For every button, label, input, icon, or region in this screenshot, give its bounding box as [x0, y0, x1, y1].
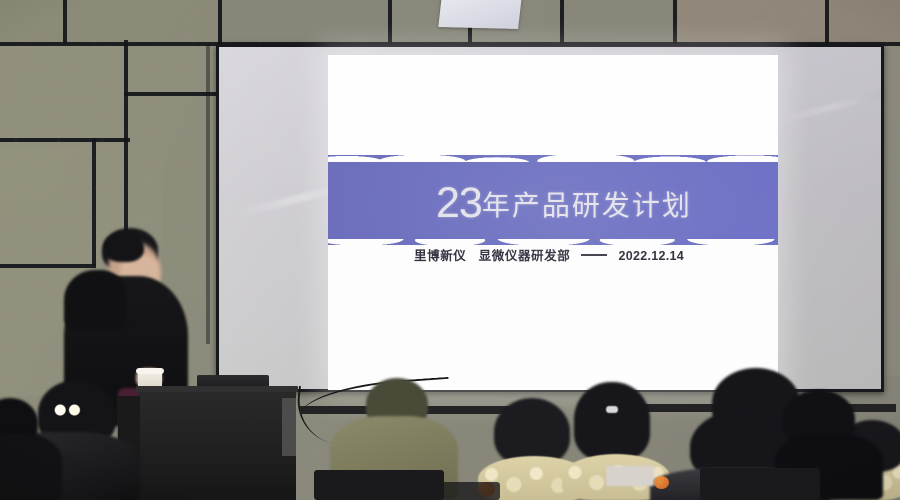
- wall-seam-v6: [825, 0, 829, 44]
- presentation-room-photo: 23年产品研发计划 里博新仪 显微仪器研发部 2022.12.14: [0, 0, 900, 500]
- sign-stem: [468, 26, 472, 44]
- chair-back-left: [314, 470, 444, 500]
- wall-seam-v3: [388, 0, 392, 44]
- slide-subtitle-date: 2022.12.14: [619, 249, 685, 263]
- wall-panel-upper-right: [673, 0, 825, 46]
- ponytail-tie: [606, 406, 618, 413]
- wall-seam-v2: [218, 0, 222, 44]
- slide-subtitle-rule: [581, 254, 607, 256]
- attendee-ponytail-hair: [574, 382, 650, 460]
- podium-top-surface: [136, 386, 298, 392]
- chair-back-center: [440, 482, 500, 500]
- wall-panel-upper-center: [218, 0, 388, 46]
- attendee-far-left-jacket: [0, 434, 62, 500]
- wall-seam-v5: [673, 0, 677, 44]
- tangerine-2: [654, 476, 669, 489]
- attendee-far-left-edge: [0, 398, 62, 500]
- ceiling-hanging-sign-icon: [438, 0, 521, 29]
- slide-top-area: [328, 55, 778, 159]
- wall-panel-left-mid: [0, 46, 128, 146]
- slide-subtitle-company: 里博新仪: [414, 249, 466, 263]
- slide-subtitle-department: 显微仪器研发部: [479, 249, 571, 263]
- wall-panel-upper-far-right: [825, 0, 900, 46]
- wall-panel-upper-center-2: [388, 0, 673, 46]
- mic-stand: [282, 398, 296, 456]
- wall-seam-v1: [63, 0, 67, 44]
- wall-seam-left-h2: [0, 138, 130, 142]
- slide-title: 23年产品研发计划: [436, 179, 692, 228]
- presenter-hood: [64, 270, 126, 330]
- slide-title-text: 年产品研发计划: [482, 190, 692, 221]
- coffee-cup-lid: [136, 368, 164, 374]
- presenter-hair-front: [104, 232, 144, 262]
- wall-panel-upper-left: [0, 0, 218, 46]
- projected-slide: 23年产品研发计划 里博新仪 显微仪器研发部 2022.12.14: [328, 55, 778, 390]
- podium: [138, 388, 296, 500]
- paper-on-desk: [606, 466, 654, 486]
- wall-seam-v4: [560, 0, 564, 44]
- chair-back-right: [700, 468, 820, 500]
- slide-subtitle: 里博新仪 显微仪器研发部 2022.12.14: [414, 245, 684, 264]
- slide-title-year: 23: [436, 179, 482, 227]
